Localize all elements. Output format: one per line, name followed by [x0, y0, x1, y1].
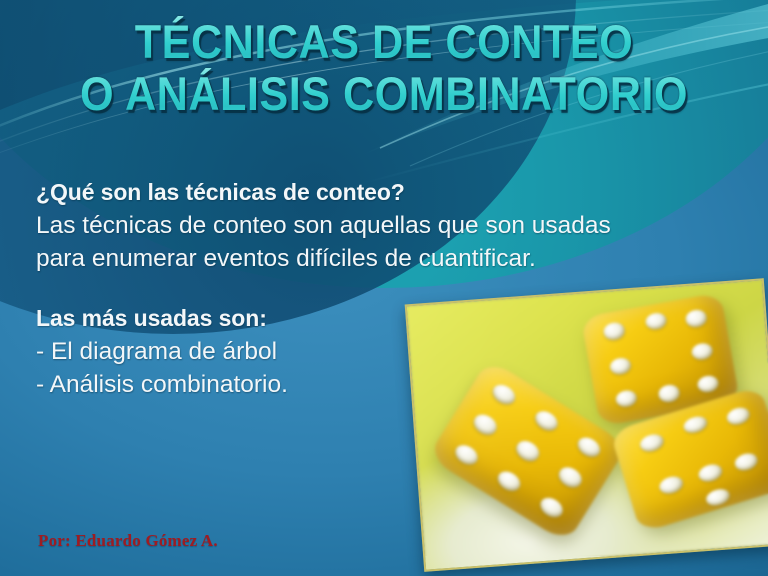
body-line-1b: para enumerar eventos difíciles de cuant… [36, 242, 748, 275]
body-heading-1: ¿Qué son las técnicas de conteo? [36, 176, 748, 209]
slide-title: TÉCNICAS DE CONTEO O ANÁLISIS COMBINATOR… [0, 16, 768, 120]
body-spacer [36, 275, 748, 302]
body-heading-2: Las más usadas son: [36, 302, 748, 335]
body-line-2a: - El diagrama de árbol [36, 335, 748, 368]
slide-body: ¿Qué son las técnicas de conteo? Las téc… [36, 176, 748, 401]
author-credit: Por: Eduardo Gómez A. [38, 531, 218, 551]
body-line-2b: - Análisis combinatorio. [36, 368, 748, 401]
title-line-1: TÉCNICAS DE CONTEO [31, 16, 738, 68]
body-line-1a: Las técnicas de conteo son aquellas que … [36, 209, 748, 242]
title-line-2: O ANÁLISIS COMBINATORIO [31, 68, 738, 120]
presentation-slide: TÉCNICAS DE CONTEO O ANÁLISIS COMBINATOR… [0, 0, 768, 576]
